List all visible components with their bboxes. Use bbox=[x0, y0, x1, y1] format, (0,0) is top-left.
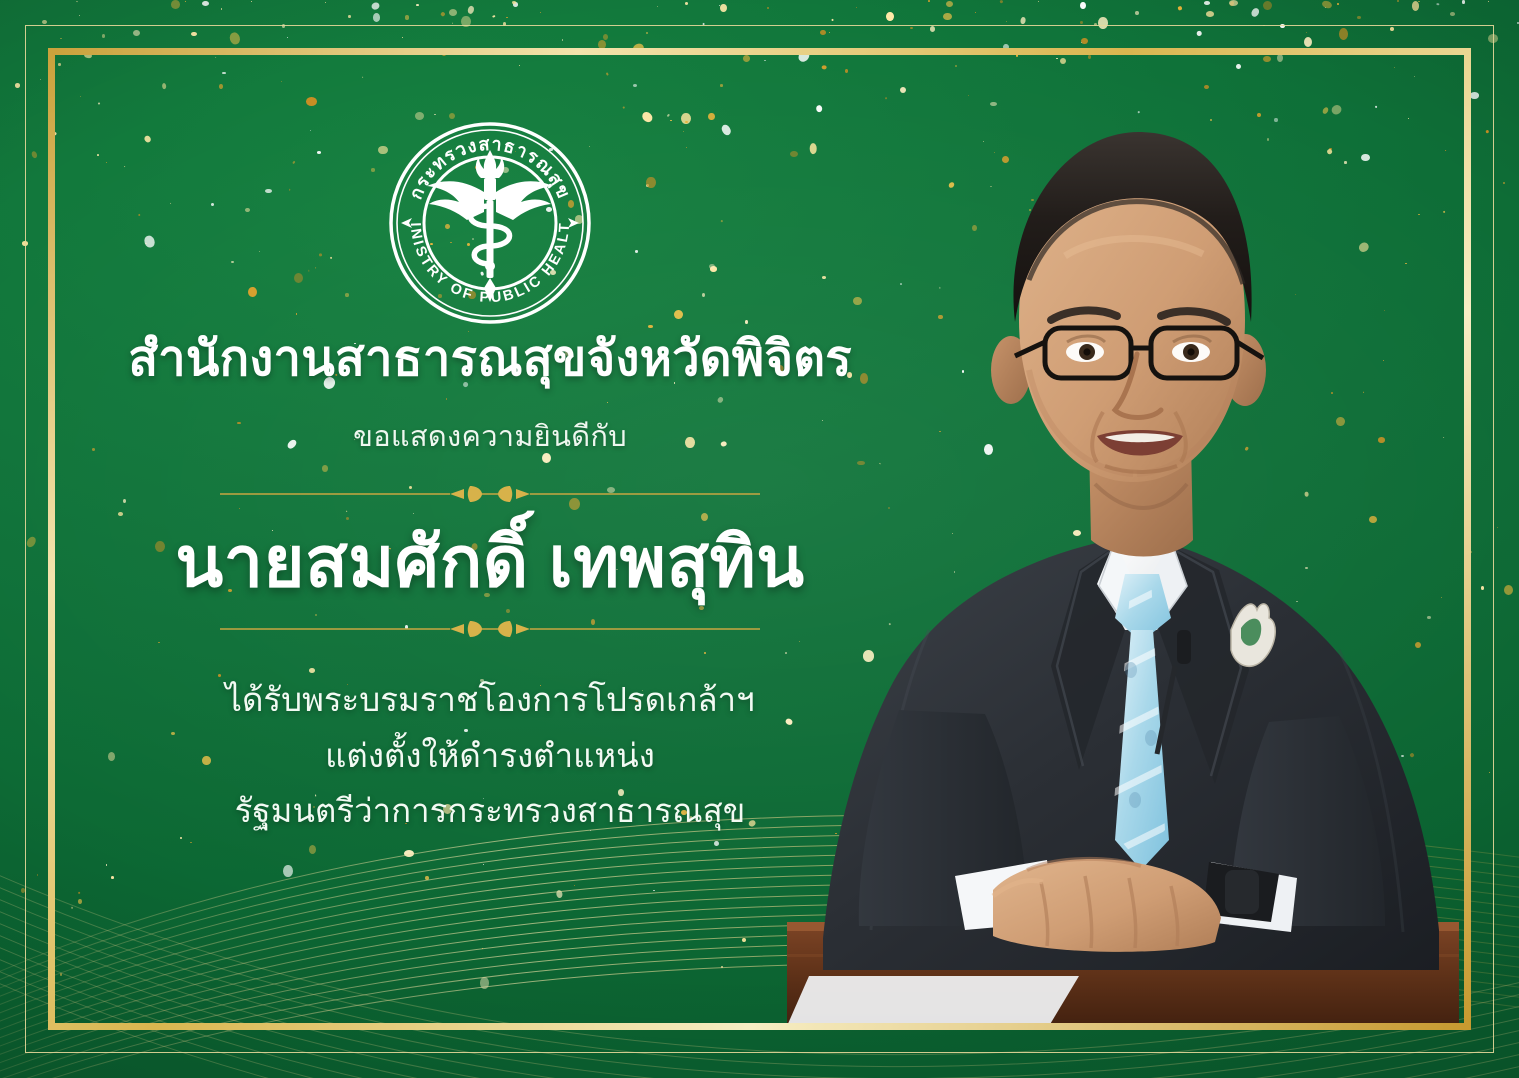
logo-wrap: กระทรวงสาธารณสุข MINISTRY OF PUBLIC HEAL… bbox=[70, 120, 910, 326]
content-column: กระทรวงสาธารณสุข MINISTRY OF PUBLIC HEAL… bbox=[70, 120, 910, 844]
detail-line-3: รัฐมนตรีว่าการกระทรวงสาธารณสุข bbox=[70, 788, 910, 834]
detail-line-2: แต่งตั้งให้ดำรงตำแหน่ง bbox=[70, 733, 910, 779]
ministry-of-public-health-emblem: กระทรวงสาธารณสุข MINISTRY OF PUBLIC HEAL… bbox=[387, 120, 593, 326]
congratulation-banner: กระทรวงสาธารณสุข MINISTRY OF PUBLIC HEAL… bbox=[0, 0, 1519, 1078]
person-name: นายสมศักดิ์ เทพสุทิน bbox=[70, 522, 910, 603]
congratulation-phrase: ขอแสดงความยินดีกับ bbox=[70, 413, 910, 459]
detail-line-1: ได้รับพระบรมราชโองการโปรดเกล้าฯ bbox=[70, 677, 910, 723]
organization-title: สำนักงานสาธารณสุขจังหวัดพิจิตร bbox=[70, 332, 910, 387]
appointment-detail: ได้รับพระบรมราชโองการโปรดเกล้าฯ แต่งตั้ง… bbox=[70, 677, 910, 834]
gold-ornamental-divider-top bbox=[70, 481, 910, 507]
gold-ornamental-divider-bottom bbox=[70, 616, 910, 642]
